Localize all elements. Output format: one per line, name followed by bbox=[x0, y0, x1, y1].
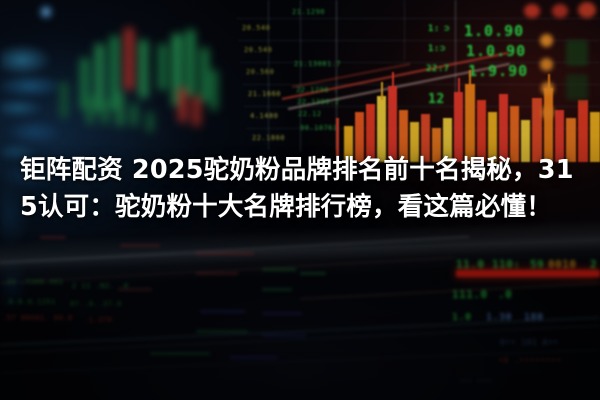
headline-text: 钜阵配资 2025驼奶粉品牌排名前十名揭秘，315认可：驼奶粉十大名牌排行榜，看… bbox=[0, 152, 600, 226]
screenshot-canvas: 20.540 20.540 20.560 21.1660 4.1480 22.1… bbox=[0, 0, 600, 400]
